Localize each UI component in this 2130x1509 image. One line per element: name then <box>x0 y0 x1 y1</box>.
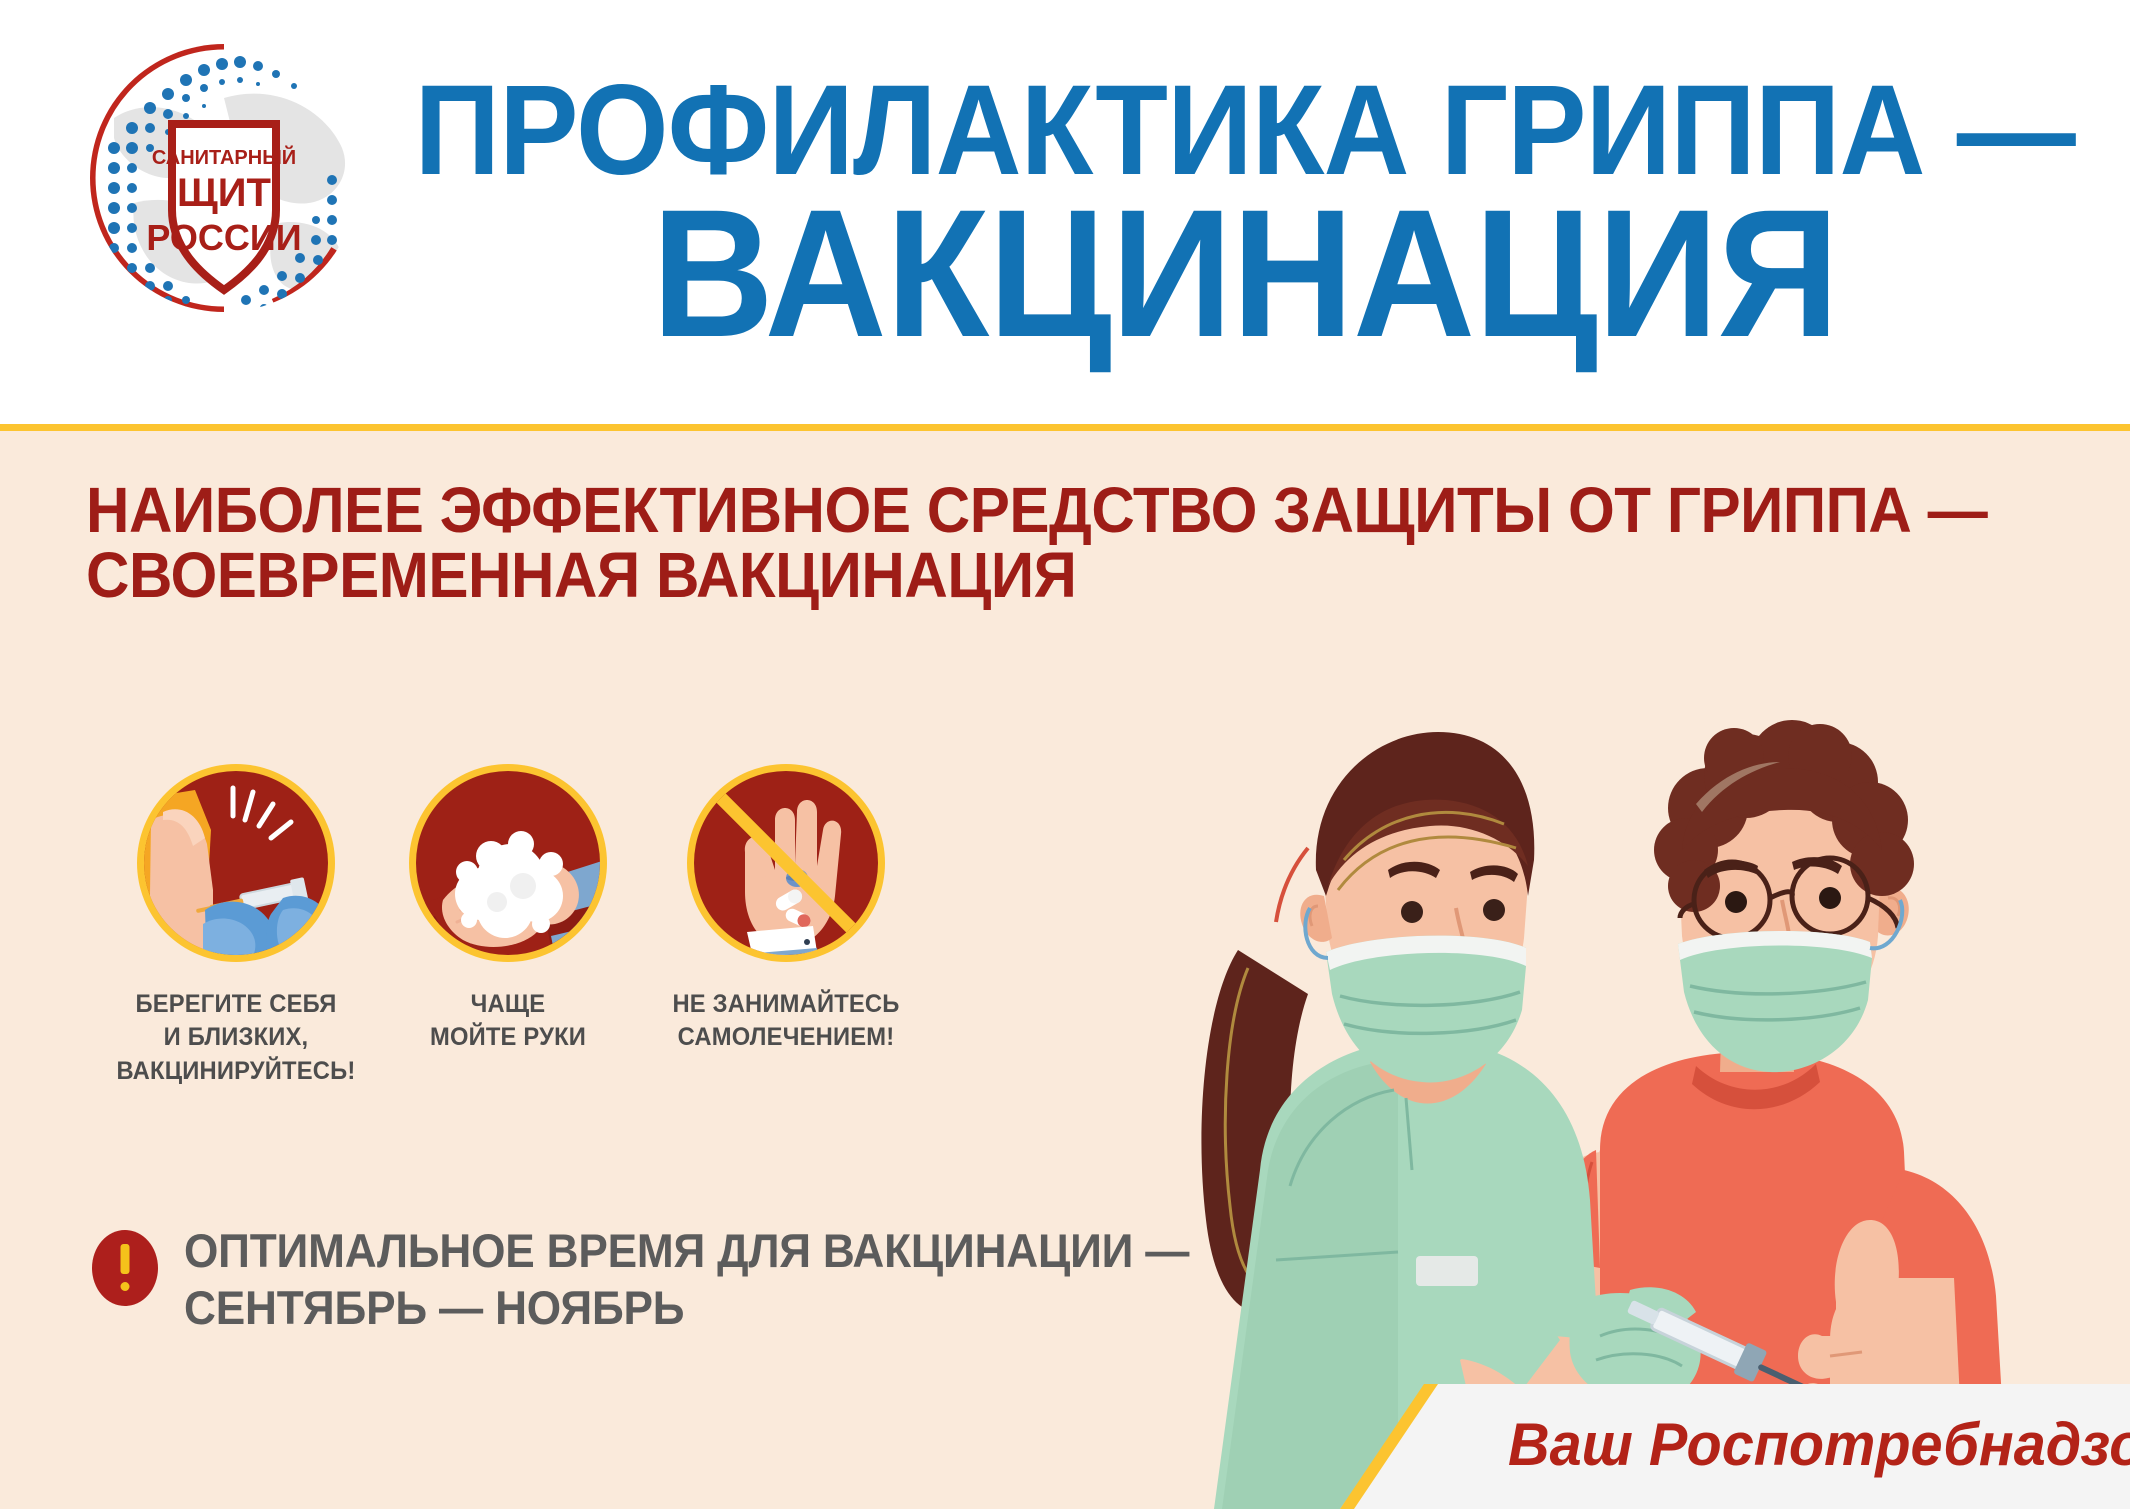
no-self-medication-icon <box>683 760 889 966</box>
exclamation-badge-icon <box>92 1230 158 1306</box>
tip3-line2: САМОЛЕЧЕНИЕМ! <box>653 1021 919 1054</box>
tip3-line1: НЕ ЗАНИМАЙТЕСЬ <box>653 988 919 1021</box>
exclamation-dot <box>121 1282 130 1291</box>
tip2-line2: МОЙТЕ РУКИ <box>375 1021 641 1054</box>
logo-line2-text: ЩИТ <box>177 171 271 215</box>
title-line-2: ВАКЦИНАЦИЯ <box>652 190 1839 357</box>
tip-caption-vaccination: БЕРЕГИТЕ СЕБЯ И БЛИЗКИХ, ВАКЦИНИРУЙТЕСЬ! <box>103 988 369 1088</box>
poster-root: САНИТАРНЫЙ ЩИТ РОССИИ ПРОФИЛАКТИКА ГРИПП… <box>0 0 2130 1509</box>
poster-header: САНИТАРНЫЙ ЩИТ РОССИИ ПРОФИЛАКТИКА ГРИПП… <box>0 0 2130 424</box>
tip-item-no-self-medication: НЕ ЗАНИМАЙТЕСЬ САМОЛЕЧЕНИЕМ! <box>646 760 926 1055</box>
footer-tab: Ваш Роспотребнадзор <box>1340 1384 2130 1509</box>
tip1-line2: И БЛИЗКИХ, <box>103 1021 369 1054</box>
logo-line1-text: САНИТАРНЫЙ <box>152 145 296 169</box>
alert-line-1: ОПТИМАЛЬНОЕ ВРЕМЯ ДЛЯ ВАКЦИНАЦИИ — <box>184 1222 1189 1279</box>
header-divider <box>0 424 2130 431</box>
tip1-line1: БЕРЕГИТЕ СЕБЯ <box>103 988 369 1021</box>
tip-item-wash-hands: ЧАЩЕ МОЙТЕ РУКИ <box>368 760 648 1055</box>
footer-text: Ваш Роспотребнадзор <box>1508 1410 2130 1479</box>
alert-line-2: СЕНТЯБРЬ — НОЯБРЬ <box>184 1279 1189 1336</box>
tip2-line1: ЧАЩЕ <box>375 988 641 1021</box>
tip-caption-no-self-medication: НЕ ЗАНИМАЙТЕСЬ САМОЛЕЧЕНИЕМ! <box>653 988 919 1055</box>
logo-line3-text: РОССИИ <box>146 217 301 258</box>
vaccination-injection-icon <box>133 760 339 966</box>
headline: НАИБОЛЕЕ ЭФФЕКТИВНОЕ СРЕДСТВО ЗАЩИТЫ ОТ … <box>86 478 1449 609</box>
tip-item-vaccination: БЕРЕГИТЕ СЕБЯ И БЛИЗКИХ, ВАКЦИНИРУЙТЕСЬ! <box>96 760 376 1088</box>
page-title: ПРОФИЛАКТИКА ГРИППА — ВАКЦИНАЦИЯ <box>400 20 2090 410</box>
optimal-time-alert: ОПТИМАЛЬНОЕ ВРЕМЯ ДЛЯ ВАКЦИНАЦИИ — СЕНТЯ… <box>92 1222 1092 1352</box>
sanitary-shield-of-russia-emblem: САНИТАРНЫЙ ЩИТ РОССИИ <box>74 28 374 328</box>
exclamation-bar <box>121 1244 130 1274</box>
tip1-line3: ВАКЦИНИРУЙТЕСЬ! <box>103 1055 369 1088</box>
alert-text: ОПТИМАЛЬНОЕ ВРЕМЯ ДЛЯ ВАКЦИНАЦИИ — СЕНТЯ… <box>184 1222 1189 1337</box>
tips-row: БЕРЕГИТЕ СЕБЯ И БЛИЗКИХ, ВАКЦИНИРУЙТЕСЬ! <box>96 760 1096 1100</box>
hand-washing-soap-icon <box>405 760 611 966</box>
headline-line-2: СВОЕВРЕМЕННАЯ ВАКЦИНАЦИЯ <box>86 543 1449 608</box>
headline-line-1: НАИБОЛЕЕ ЭФФЕКТИВНОЕ СРЕДСТВО ЗАЩИТЫ ОТ … <box>86 478 1449 543</box>
tip-caption-wash-hands: ЧАЩЕ МОЙТЕ РУКИ <box>375 988 641 1055</box>
